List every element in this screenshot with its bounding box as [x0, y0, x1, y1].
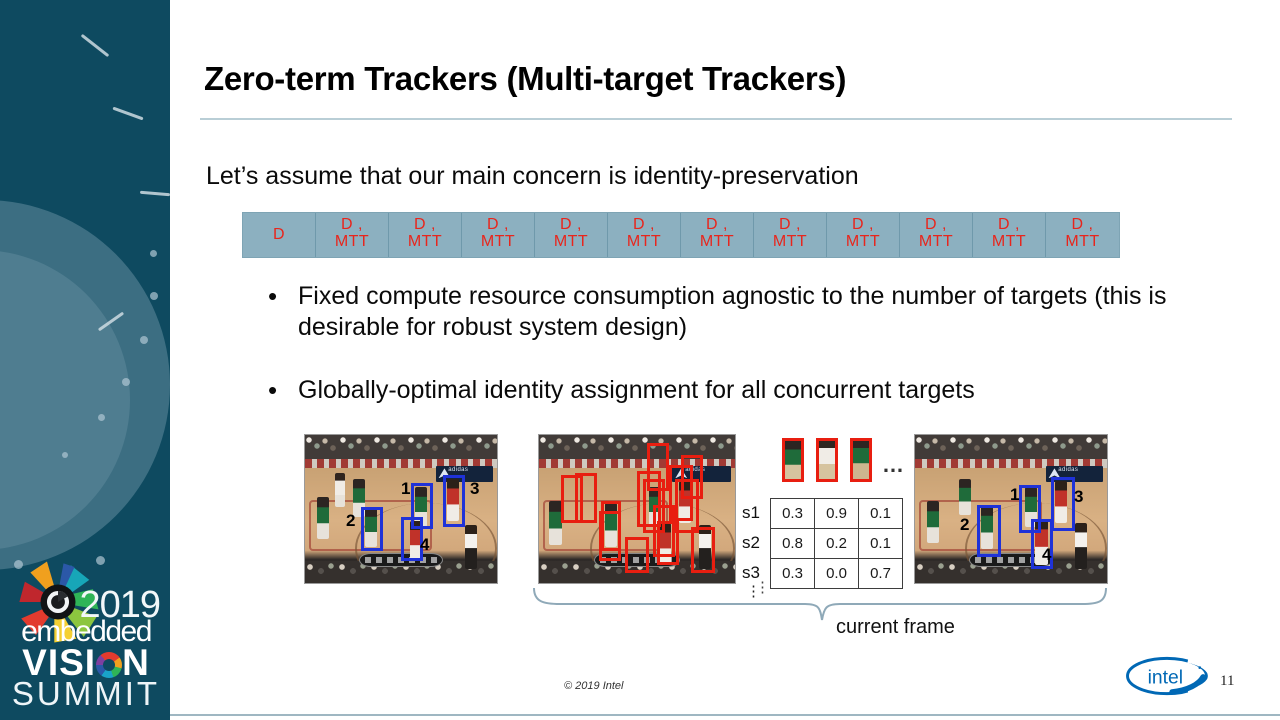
sequence-vertical-ellipsis: ⋮	[755, 586, 770, 590]
current-frame-brace	[530, 584, 1110, 626]
matrix-cell: 0.8	[771, 529, 815, 559]
detection-box	[647, 443, 669, 491]
patch-thumbnail	[853, 441, 869, 479]
table-row: 0.8 0.2 0.1	[771, 529, 903, 559]
patches-ellipsis: …	[882, 452, 905, 478]
logo-wordmark: 2019 embedded VISIN SUMMIT	[6, 586, 166, 710]
detection-box	[625, 537, 649, 573]
matrix-row-label: s1	[742, 503, 760, 523]
track-id-label: 1	[1010, 486, 1019, 503]
page-number: 11	[1220, 673, 1234, 690]
tracked-box-2	[361, 507, 383, 551]
frame-image-detections: adidas	[538, 434, 736, 584]
player-figure	[927, 501, 939, 543]
tracked-box-3	[443, 475, 465, 527]
slide-content: Zero-term Trackers (Multi-target Tracker…	[170, 0, 1280, 720]
embedded-vision-summit-logo: 2019 embedded VISIN SUMMIT	[6, 564, 166, 704]
svg-text:intel: intel	[1148, 668, 1183, 689]
matrix-cell: 0.1	[859, 529, 903, 559]
player-figure	[317, 497, 329, 539]
adboard-text: adidas	[448, 467, 468, 473]
tracked-box-3	[1051, 477, 1075, 531]
sidebar-dot-4	[122, 378, 130, 386]
track-id-label: 1	[401, 480, 410, 497]
aperture-o-icon	[96, 652, 122, 678]
patch-thumbnail	[819, 441, 835, 479]
footer-divider	[170, 714, 1280, 716]
tracked-box-2	[977, 505, 1001, 557]
player-figure	[335, 473, 345, 507]
detection-patch-2	[816, 438, 838, 482]
matrix-row-label: s2	[742, 533, 760, 553]
sidebar-dot-3	[140, 336, 148, 344]
tracking-figure-group: adidas 1 2 3 4	[170, 0, 1280, 720]
detection-patch-1	[782, 438, 804, 482]
sidebar-dot-5	[98, 414, 105, 421]
referee-figure	[1075, 523, 1087, 569]
track-id-label: 2	[346, 512, 355, 529]
track-id-label: 3	[470, 480, 479, 497]
table-row: 0.3 0.9 0.1	[771, 499, 903, 529]
sidebar-dot-1	[150, 250, 157, 257]
player-figure	[959, 479, 971, 515]
track-id-label: 4	[1042, 546, 1051, 563]
affinity-matrix-group: s1 s2 s3 0.3 0.9 0.1 0.8 0.2 0.1 0.3	[770, 498, 903, 589]
detection-box	[575, 473, 597, 523]
sidebar-dot-6	[62, 452, 68, 458]
slide-root: 2019 embedded VISIN SUMMIT Zero-term Tra…	[0, 0, 1280, 720]
detection-box	[599, 511, 621, 561]
track-id-label: 4	[420, 536, 429, 553]
frame-image-previous: adidas	[304, 434, 498, 584]
sidebar-decoration-panel: 2019 embedded VISIN SUMMIT	[0, 0, 170, 720]
adboard-text: adidas	[1058, 467, 1078, 473]
matrix-cell: 0.1	[859, 499, 903, 529]
logo-summit: SUMMIT	[6, 677, 166, 710]
matrix-cell: 0.2	[815, 529, 859, 559]
detection-box	[691, 527, 715, 573]
detection-box	[681, 455, 703, 499]
patch-thumbnail	[785, 441, 801, 479]
track-id-label: 3	[1074, 488, 1083, 505]
copyright-text: © 2019 Intel	[564, 680, 623, 692]
current-frame-caption: current frame	[836, 616, 955, 639]
detection-patch-3	[850, 438, 872, 482]
intel-logo: intel	[1125, 655, 1209, 697]
sidebar-dot-2	[150, 292, 158, 300]
referee-figure	[465, 525, 477, 569]
track-id-label: 2	[960, 516, 969, 533]
frame-image-result: adidas	[914, 434, 1108, 584]
matrix-cell: 0.9	[815, 499, 859, 529]
matrix-cell: 0.3	[771, 499, 815, 529]
affinity-matrix-table: 0.3 0.9 0.1 0.8 0.2 0.1 0.3 0.0 0.7	[770, 498, 903, 589]
